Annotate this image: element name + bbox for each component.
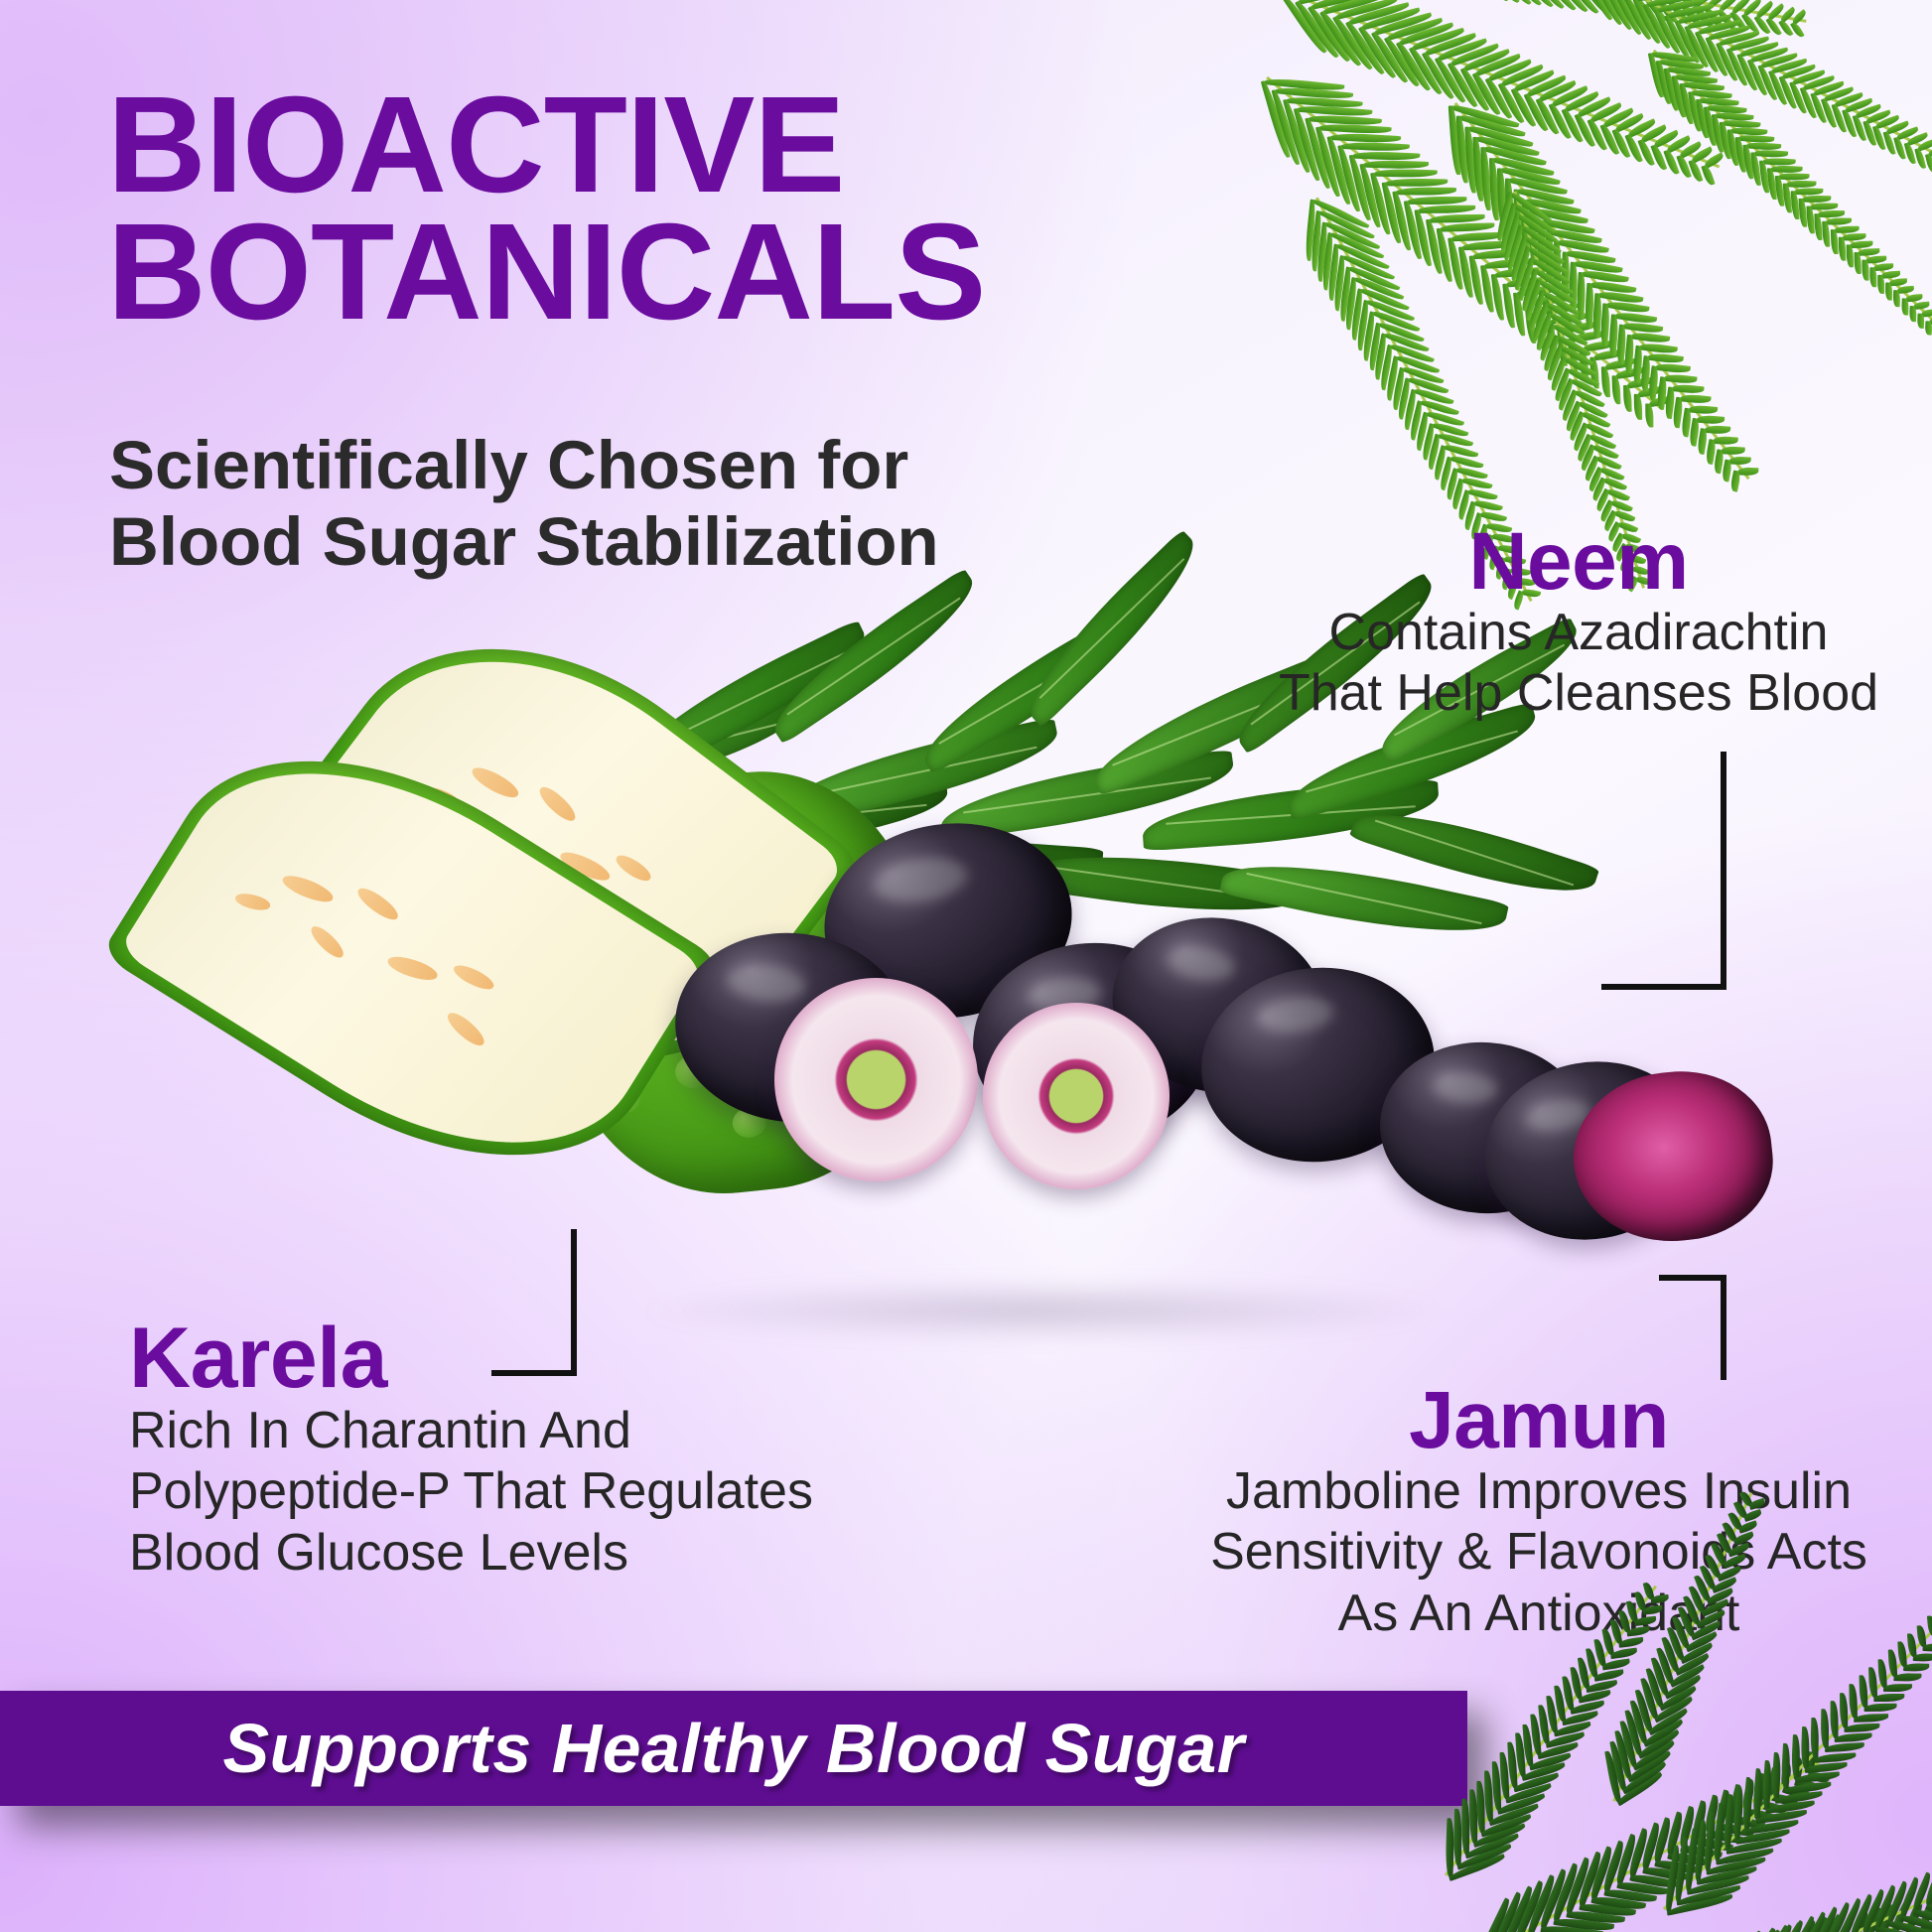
page-subtitle: Scientifically Chosen for Blood Sugar St…: [109, 427, 1102, 581]
tagline-text: Supports Healthy Blood Sugar: [0, 1691, 1467, 1806]
fern-pinna: [1664, 372, 1698, 383]
fern-pinna: [1815, 1752, 1857, 1763]
fern-pinna: [1680, 394, 1711, 405]
callout-karela-desc-line-3: Blood Glucose Levels: [129, 1523, 884, 1584]
fern-pinna: [1794, 188, 1824, 196]
callout-karela-desc-line-1: Rich In Charantin And: [129, 1401, 884, 1461]
fern-pinna: [1821, 1710, 1830, 1749]
fern-pinna: [1850, 240, 1872, 247]
fern-pinna: [1881, 271, 1901, 278]
title-line-2: BOTANICALS: [107, 208, 1199, 336]
fern-pinna: [1873, 1694, 1904, 1702]
fern-pinna: [1722, 446, 1745, 455]
fern-pinna: [1737, 467, 1758, 476]
fern-leaves-bottom-icon: [1436, 1604, 1932, 1932]
callout-neem-desc-line-1: Contains Azadirachtin: [1246, 603, 1911, 663]
fern-pinna: [1786, 180, 1817, 188]
fern-pinna: [1647, 351, 1684, 363]
jamun-berry-cluster: [645, 824, 1519, 1291]
fern-pinna: [1771, 1751, 1783, 1800]
fern-pinna: [1815, 213, 1823, 240]
callout-neem-description: Contains Azadirachtin That Help Cleanses…: [1246, 603, 1911, 725]
callout-neem: Neem Contains Azadirachtin That Help Cle…: [1246, 521, 1911, 725]
fern-pinna: [1925, 321, 1932, 335]
fern-pinna: [1823, 221, 1830, 247]
page-title: BIOACTIVE BOTANICALS: [107, 81, 1199, 337]
fern-pinna: [1897, 286, 1915, 294]
fern-pinna: [1656, 362, 1691, 374]
fern-pinna: [1845, 1724, 1881, 1733]
fern-pinna: [1770, 164, 1803, 172]
jamun-cut-half-right: [983, 1003, 1170, 1189]
fern-pinna: [1631, 331, 1671, 344]
fern-pinna: [1825, 1743, 1864, 1753]
poster-canvas: BIOACTIVE BOTANICALS Scientifically Chos…: [0, 0, 1932, 1932]
fern-pinna: [1903, 1663, 1929, 1672]
subtitle-line-2: Blood Sugar Stabilization: [109, 503, 1102, 580]
fern-pinna: [1754, 149, 1788, 158]
callout-karela: Karela Rich In Charantin And Polypeptide…: [129, 1315, 884, 1584]
fern-pinna: [1854, 1714, 1888, 1723]
jamun-cut-half-left: [774, 978, 978, 1181]
fern-pinna: [1850, 1684, 1859, 1719]
fern-pinna: [1835, 225, 1860, 232]
fern-pinna: [1791, 1734, 1801, 1779]
fern-pinna: [1883, 1684, 1912, 1693]
callout-neem-desc-line-2: That Help Cleanses Blood: [1246, 663, 1911, 724]
neem-leader-line-vertical: [1721, 752, 1726, 990]
neem-leader-line-horizontal: [1601, 984, 1726, 990]
fern-pinna: [1460, 1799, 1469, 1856]
fern-pinna: [1471, 0, 1509, 4]
fern-pinna: [1729, 457, 1752, 466]
fern-pinna: [1689, 404, 1719, 414]
fern-pinna: [1840, 1693, 1849, 1728]
fern-pinna: [1801, 1726, 1811, 1770]
fern-pinna: [1811, 203, 1839, 209]
fern-pinna: [1458, 0, 1497, 3]
fern-pinna: [1819, 210, 1846, 217]
fern-pinna: [1863, 1704, 1896, 1713]
title-line-1: BIOACTIVE: [107, 81, 1199, 208]
callout-karela-desc-line-2: Polypeptide-P That Regulates: [129, 1461, 884, 1522]
fern-pinna: [1811, 1718, 1820, 1759]
fern-pinna: [1925, 154, 1932, 175]
fern-pinna: [1672, 383, 1705, 394]
fern-pinna: [1913, 1653, 1932, 1662]
fern-pinna: [1914, 148, 1926, 170]
fern-pinna: [1858, 248, 1879, 255]
subtitle-line-1: Scientifically Chosen for: [109, 427, 1102, 503]
callout-karela-title: Karela: [129, 1315, 884, 1401]
fern-pinna: [1831, 1701, 1840, 1738]
fern-pinna: [1713, 436, 1738, 445]
tagline-banner: Supports Healthy Blood Sugar: [0, 1691, 1467, 1806]
callout-jamun-desc-line-1: Jamboline Improves Insulin: [1167, 1461, 1911, 1522]
fern-pinna: [1835, 1733, 1872, 1743]
fern-pinna: [1904, 142, 1916, 165]
fern-pinna: [1827, 217, 1853, 224]
fern-pinna: [1923, 1643, 1932, 1653]
callout-karela-description: Rich In Charantin And Polypeptide-P That…: [129, 1401, 884, 1584]
fern-pinna: [1447, 0, 1486, 1]
fern-pinna: [1748, 1498, 1766, 1510]
fern-pinna: [1705, 425, 1731, 435]
fern-pinna: [1778, 172, 1810, 180]
fern-pinna: [1697, 415, 1725, 425]
callout-jamun-desc-line-2: Sensitivity & Flavonoids Acts: [1167, 1522, 1911, 1583]
jamun-leader-line-horizontal: [1659, 1275, 1726, 1281]
fern-pinna: [1781, 1743, 1792, 1790]
fern-pinna: [1483, 0, 1520, 6]
fern-pinna: [1893, 1674, 1921, 1683]
fern-pinna: [1843, 233, 1866, 240]
fern-pinna: [1762, 157, 1795, 166]
callout-jamun-title: Jamun: [1167, 1380, 1911, 1461]
callout-neem-title: Neem: [1246, 521, 1911, 603]
fern-pinna: [1639, 342, 1677, 354]
fern-pinna: [1889, 278, 1908, 286]
jamun-leader-line-vertical: [1721, 1275, 1726, 1380]
fern-pinna: [1865, 255, 1886, 262]
fern-pinna: [1803, 195, 1832, 202]
fern-leaves-icon: [1257, 0, 1932, 447]
fern-pinna: [1873, 263, 1893, 270]
